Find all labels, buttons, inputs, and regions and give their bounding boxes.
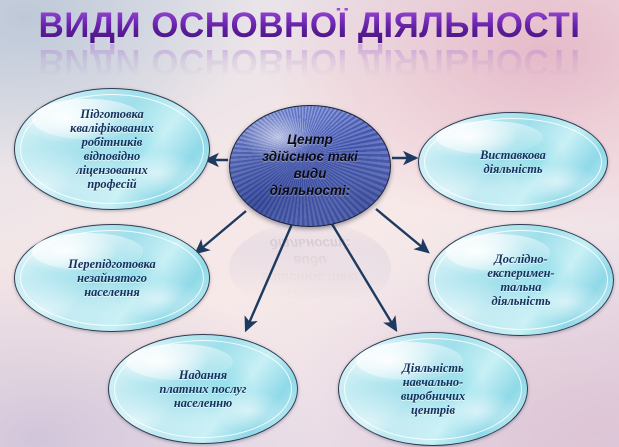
node-top-left-line-1: Підготовка	[80, 107, 143, 121]
node-top-right-label: Виставкова діяльність	[472, 148, 554, 176]
node-top-left-line-6: професій	[87, 177, 136, 191]
page-title-reflection: ВИДИ ОСНОВНОЇ ДІЯЛЬНОСТІ	[0, 44, 619, 79]
node-middle-right-line-2: експеримен-	[487, 266, 554, 280]
center-line-3: види	[293, 166, 326, 181]
slide-canvas: ВИДИ ОСНОВНОЇ ДІЯЛЬНОСТІ ВИДИ ОСНОВНОЇ Д…	[0, 0, 619, 447]
slide-title-block: ВИДИ ОСНОВНОЇ ДІЯЛЬНОСТІ ВИДИ ОСНОВНОЇ Д…	[0, 8, 619, 79]
node-bottom-right-line-4: центрів	[411, 403, 455, 417]
node-bottom-left-line-1: Надання	[179, 368, 227, 382]
node-bottom-right-line-3: виробничих	[401, 389, 465, 403]
node-top-left-line-4: відповідно	[84, 149, 140, 163]
node-middle-left-line-3: населення	[84, 285, 140, 299]
node-middle-left[interactable]: Перепідготовка незайнятого населення	[14, 224, 210, 332]
node-bottom-left-line-2: платних послуг	[159, 382, 246, 396]
center-line-2: здійснює такі	[262, 149, 358, 164]
node-top-left-line-2: кваліфікованих	[70, 121, 154, 135]
node-middle-left-line-2: незайнятого	[77, 271, 147, 285]
node-middle-right-line-3: тальна	[501, 280, 542, 294]
node-top-left-line-3: робітників	[82, 135, 143, 149]
node-middle-left-line-1: Перепідготовка	[68, 257, 155, 271]
page-title: ВИДИ ОСНОВНОЇ ДІЯЛЬНОСТІ	[0, 8, 619, 43]
center-line-4: діяльності:	[270, 183, 351, 198]
center-line-1: Центр	[287, 132, 333, 147]
node-top-left-line-5: ліцензованих	[76, 163, 148, 177]
node-bottom-left-line-3: населенню	[174, 396, 232, 410]
center-node-label: Центр здійснює такі види діяльності:	[254, 132, 366, 200]
arrow-center-to-middle-left	[196, 211, 246, 253]
arrow-center-to-middle-right	[376, 209, 428, 252]
node-top-right[interactable]: Виставкова діяльність	[418, 112, 608, 212]
node-top-left[interactable]: Підготовка кваліфікованих робітників від…	[14, 88, 210, 210]
node-bottom-left-label: Надання платних послуг населенню	[151, 368, 254, 410]
node-middle-right-line-4: діяльність	[491, 294, 550, 308]
node-bottom-left[interactable]: Надання платних послуг населенню	[108, 334, 298, 444]
node-bottom-right-line-2: навчально-	[403, 375, 464, 389]
node-top-right-line-2: діяльність	[483, 162, 542, 176]
node-middle-right-label: Дослідно- експеримен- тальна діяльність	[479, 252, 562, 308]
node-top-left-label: Підготовка кваліфікованих робітників від…	[62, 107, 162, 191]
node-middle-left-label: Перепідготовка незайнятого населення	[60, 257, 163, 299]
node-bottom-right-label: Діяльність навчально- виробничих центрів	[393, 361, 473, 417]
node-bottom-right-line-1: Діяльність	[402, 361, 463, 375]
node-middle-right-line-1: Дослідно-	[494, 252, 547, 266]
arrow-center-to-bottom-right	[332, 224, 396, 330]
node-bottom-right[interactable]: Діяльність навчально- виробничих центрів	[338, 332, 528, 446]
arrow-center-to-bottom-left	[246, 224, 292, 330]
node-top-right-line-1: Виставкова	[480, 148, 546, 162]
node-middle-right[interactable]: Дослідно- експеримен- тальна діяльність	[428, 224, 614, 336]
center-node[interactable]: Центр здійснює такі види діяльності:	[229, 105, 391, 227]
